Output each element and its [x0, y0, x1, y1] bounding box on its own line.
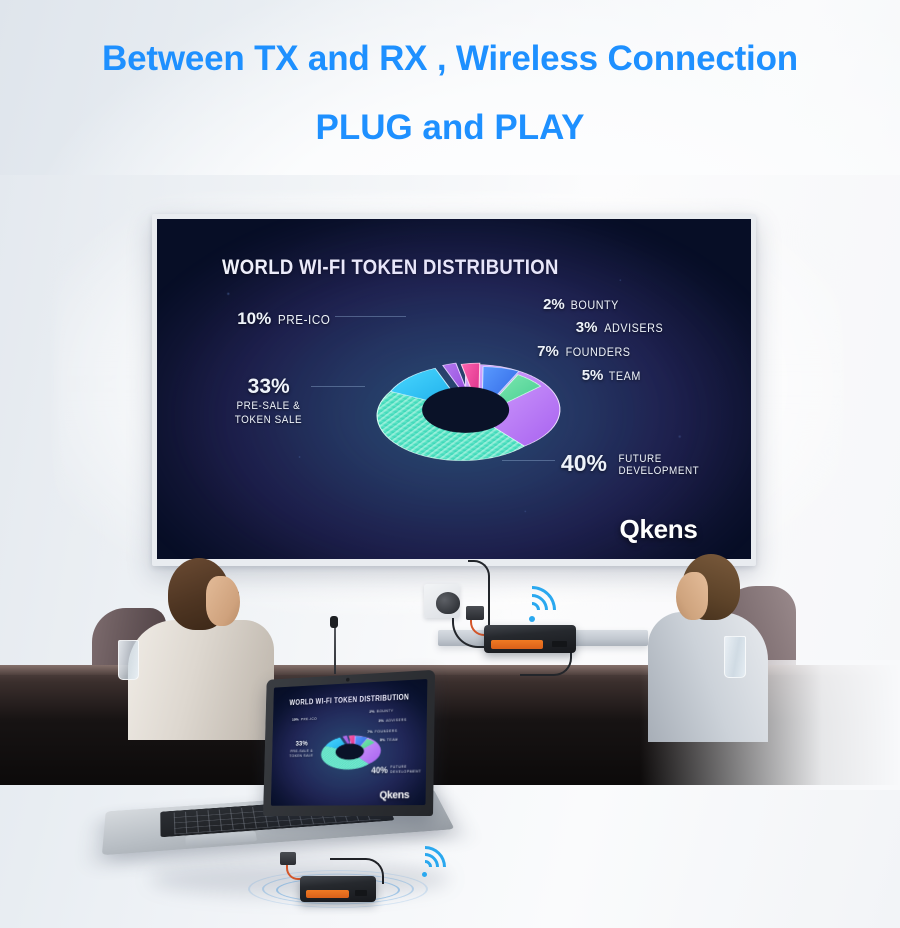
wifi-dot [422, 872, 427, 877]
label-future-name-2: DEVELOPMENT [619, 465, 700, 477]
headline-line-1: Between TX and RX , Wireless Connection [0, 38, 900, 79]
laptop-label-team-pct: 5% [380, 737, 385, 742]
label-bounty: 2% BOUNTY [543, 296, 622, 313]
laptop-screen: WORLD WI-FI TOKEN DISTRIBUTION [271, 679, 428, 806]
leader-line-presale [311, 386, 364, 387]
label-future-pct: 40% [561, 450, 607, 476]
label-future-name-1: FUTURE [619, 453, 662, 465]
label-team-pct: 5% [582, 367, 604, 384]
water-glass-right [724, 636, 746, 678]
antenna-tip [330, 616, 338, 628]
person-left-face [206, 576, 240, 626]
headline-line-2: PLUG and PLAY [0, 107, 900, 148]
power-plug [436, 592, 460, 614]
label-bounty-name: BOUNTY [571, 298, 619, 312]
wifi-icon-transmitter [404, 846, 448, 878]
hdmi-connector [466, 606, 484, 620]
label-founders-name: FOUNDERS [566, 345, 631, 359]
label-pre-ico-name: PRE-ICO [278, 312, 331, 327]
tv-slide: WORLD WI-FI TOKEN DISTRIBUTION [157, 219, 751, 559]
laptop-webcam [346, 678, 350, 682]
water-glass-left [118, 640, 139, 680]
laptop-label-founders-name: FOUNDERS [375, 728, 398, 734]
label-team-name: TEAM [609, 369, 641, 383]
leader-line-preico [335, 316, 406, 317]
person-right-face [676, 572, 708, 620]
laptop-label-pre-sale: 33% PRE-SALE & TOKEN SALE [288, 739, 315, 758]
label-advisers: 3% ADVISERS [576, 319, 667, 336]
transmitter-hdmi-connector [280, 852, 296, 865]
transmitter-port [355, 890, 367, 896]
laptop-label-pre-ico-pct: 10% [292, 717, 299, 722]
label-pre-ico: 10% PRE-ICO [237, 309, 333, 329]
person-left-body [128, 620, 274, 740]
laptop-label-pre-sale-name-2: TOKEN SALE [289, 753, 313, 758]
label-pre-sale-pct: 33% [231, 374, 306, 400]
headline-block: Between TX and RX , Wireless Connection … [0, 38, 900, 149]
laptop-label-future-name-2: DEVELOPMENT [390, 768, 421, 773]
label-pre-sale-name-2: TOKEN SALE [235, 414, 302, 428]
label-advisers-pct: 3% [576, 319, 598, 336]
label-pre-sale: 33% PRE-SALE & TOKEN SALE [231, 374, 306, 428]
laptop-label-team-name: TEAM [387, 736, 398, 741]
transmitter-accent-band [306, 890, 349, 898]
laptop-slide: WORLD WI-FI TOKEN DISTRIBUTION [271, 679, 428, 806]
receiver-accent-band [491, 640, 543, 648]
slide-brand-logo: Qkens [620, 514, 698, 545]
laptop-label-bounty-name: BOUNTY [376, 708, 393, 714]
laptop-label-advisers-pct: 3% [378, 718, 383, 723]
wall-mounted-tv: WORLD WI-FI TOKEN DISTRIBUTION [152, 214, 756, 566]
label-future-name: FUTURE DEVELOPMENT [619, 453, 700, 478]
product-marketing-image: Between TX and RX , Wireless Connection … [0, 0, 900, 928]
wifi-dot [529, 616, 535, 622]
label-advisers-name: ADVISERS [604, 321, 663, 335]
person-right-body [648, 612, 768, 742]
label-pre-ico-pct: 10% [237, 309, 271, 328]
label-future-development: 40% FUTURE DEVELOPMENT [561, 450, 704, 478]
laptop-label-team: 5% TEAM [380, 736, 399, 741]
label-team: 5% TEAM [582, 367, 643, 384]
receiver-port [552, 641, 567, 647]
laptop-label-future-name: FUTURE DEVELOPMENT [390, 765, 421, 775]
donut-chart [329, 301, 602, 519]
tv-screen: WORLD WI-FI TOKEN DISTRIBUTION [157, 219, 751, 559]
laptop-slide-brand-logo: Qkens [379, 790, 409, 802]
laptop-label-bounty-pct: 2% [369, 709, 374, 714]
laptop-label-future-pct: 40% [371, 765, 388, 775]
label-pre-sale-name-1: PRE-SALE & [237, 400, 301, 414]
laptop-label-pre-ico-name: PRE-ICO [301, 716, 317, 721]
wireless-hdmi-transmitter [300, 876, 376, 902]
laptop-label-founders-pct: 7% [367, 729, 372, 734]
label-founders-pct: 7% [537, 343, 559, 360]
laptop-donut-chart [314, 711, 387, 791]
laptop-label-future: 40% FUTURE DEVELOPMENT [371, 765, 423, 777]
laptop-label-advisers-name: ADVISERS [386, 717, 407, 723]
leader-line-future [502, 460, 555, 461]
wifi-icon-receiver [508, 586, 558, 622]
antenna-rod [334, 622, 336, 674]
laptop-lid: WORLD WI-FI TOKEN DISTRIBUTION [263, 670, 435, 816]
label-founders: 7% FOUNDERS [537, 343, 634, 360]
label-bounty-pct: 2% [543, 296, 565, 313]
